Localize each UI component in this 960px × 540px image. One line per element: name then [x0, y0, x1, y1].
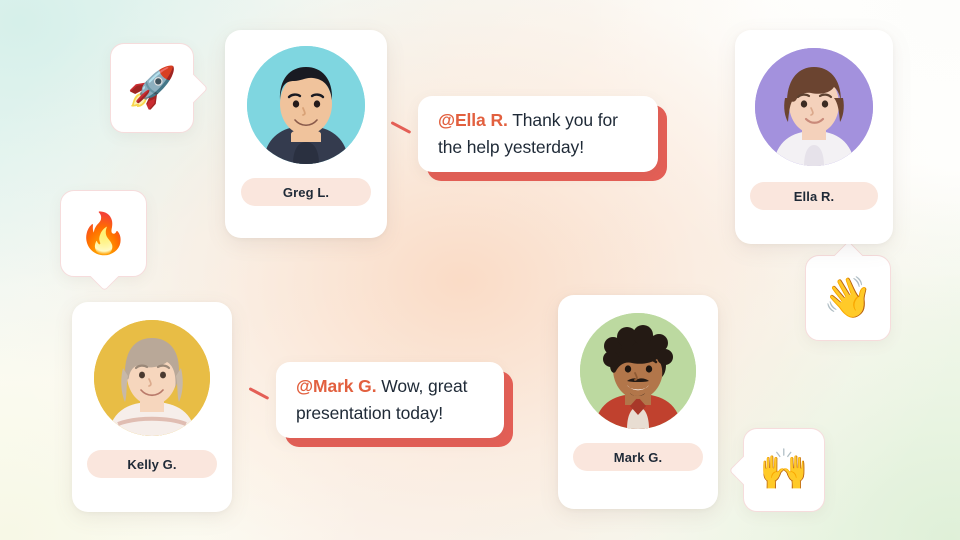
avatar-greg	[247, 46, 365, 164]
bubble-tail-top	[834, 241, 864, 271]
reaction-bubble-fire[interactable]: 🔥	[60, 190, 147, 277]
avatar-ella	[755, 48, 873, 166]
avatar-mark-illustration	[580, 313, 696, 429]
person-card-kelly[interactable]: Kelly G.	[72, 302, 232, 512]
person-name-greg: Greg L.	[283, 185, 329, 200]
avatar-kelly-illustration	[94, 320, 210, 436]
person-card-mark[interactable]: Mark G.	[558, 295, 718, 509]
avatar-ella-illustration	[755, 48, 873, 166]
person-card-ella[interactable]: Ella R.	[735, 30, 893, 244]
mention-ella[interactable]: @Ella R.	[438, 110, 508, 130]
person-card-greg[interactable]: Greg L.	[225, 30, 387, 238]
person-name-mark: Mark G.	[614, 450, 662, 465]
message-mark-tail	[249, 387, 270, 400]
bubble-tail-left	[729, 456, 759, 486]
avatar-greg-illustration	[247, 46, 365, 164]
scene-canvas: 🚀 🔥 👋 🙌	[0, 0, 960, 540]
person-name-ella: Ella R.	[794, 189, 834, 204]
message-mark-text: @Mark G. Wow, great presentation today!	[296, 373, 484, 427]
reaction-bubble-waving-hand[interactable]: 👋	[805, 255, 891, 341]
person-name-kelly: Kelly G.	[127, 457, 176, 472]
name-pill-greg: Greg L.	[241, 178, 371, 206]
avatar-mark	[580, 313, 696, 429]
message-ella-text: @Ella R. Thank you for the help yesterda…	[438, 107, 638, 161]
reaction-bubble-raising-hands[interactable]: 🙌	[743, 428, 825, 512]
message-mark-wrap: @Mark G. Wow, great presentation today!	[276, 362, 504, 438]
bubble-tail-right	[179, 74, 209, 104]
message-bubble-mark[interactable]: @Mark G. Wow, great presentation today!	[276, 362, 504, 438]
message-ella-wrap: @Ella R. Thank you for the help yesterda…	[418, 96, 658, 172]
message-bubble-ella[interactable]: @Ella R. Thank you for the help yesterda…	[418, 96, 658, 172]
fire-emoji: 🔥	[79, 214, 129, 254]
name-pill-kelly: Kelly G.	[87, 450, 217, 478]
name-pill-ella: Ella R.	[750, 182, 878, 210]
bubble-tail-bottom	[89, 262, 119, 292]
message-ella-tail	[391, 121, 412, 134]
name-pill-mark: Mark G.	[573, 443, 703, 471]
reaction-bubble-rocket[interactable]: 🚀	[110, 43, 194, 133]
avatar-kelly	[94, 320, 210, 436]
rocket-emoji: 🚀	[127, 68, 177, 108]
waving-hand-emoji: 👋	[823, 278, 873, 318]
mention-mark[interactable]: @Mark G.	[296, 376, 376, 396]
raising-hands-emoji: 🙌	[759, 450, 809, 490]
